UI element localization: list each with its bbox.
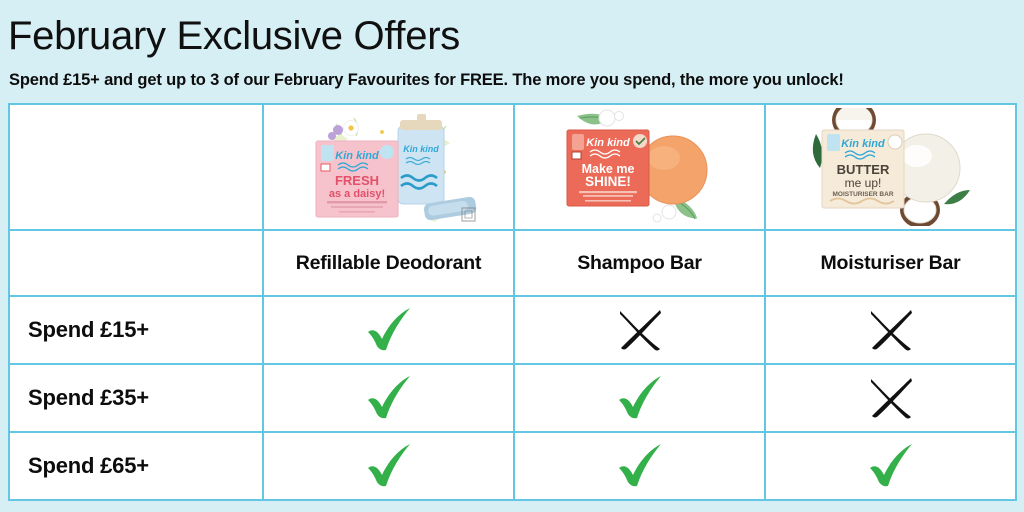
table-row-product-images: Kin kind <box>9 104 1016 230</box>
tick-icon-svg <box>362 442 416 490</box>
page-subtitle: Spend £15+ and get up to 3 of our Februa… <box>9 70 844 90</box>
svg-text:Kin kind: Kin kind <box>586 137 630 149</box>
svg-text:FRESH: FRESH <box>334 173 378 188</box>
tick-icon-svg <box>613 374 667 422</box>
row-header-spend-35: Spend £35+ <box>9 364 263 432</box>
product-name-label: Shampoo Bar <box>577 252 702 274</box>
cross-icon <box>766 297 1015 363</box>
cross-icon <box>515 297 764 363</box>
moisturiser-image-wrap: Kin kind BUTTER me up! MOISTURISER BAR <box>766 106 1015 228</box>
svg-text:BUTTER: BUTTER <box>836 162 889 177</box>
product-image-cell-deodorant: Kin kind <box>263 104 514 230</box>
cross-icon <box>766 365 1015 431</box>
moisturiser-bar-product-icon: Kin kind BUTTER me up! MOISTURISER BAR <box>796 108 986 226</box>
table-corner-cell <box>9 104 263 230</box>
cross-icon-svg <box>867 375 915 421</box>
cell-spend35-shampoo <box>514 364 765 432</box>
tick-icon-svg <box>362 306 416 354</box>
tick-icon <box>515 365 764 431</box>
page-title: February Exclusive Offers <box>8 13 460 59</box>
cell-spend15-moisturiser <box>765 296 1016 364</box>
spend-tier-label: Spend £35+ <box>10 385 262 411</box>
shampoo-bar-product-icon: Kin kind Make me SHINE! <box>545 108 735 226</box>
deodorant-refill-box: Kin kind FRESH as a daisy! <box>316 141 398 217</box>
svg-text:me up!: me up! <box>844 176 881 190</box>
product-image-cell-shampoo: Kin kind Make me SHINE! <box>514 104 765 230</box>
table-row-spend-15: Spend £15+ <box>9 296 1016 364</box>
refillable-deodorant-product-icon: Kin kind <box>294 108 484 226</box>
product-name-cell-shampoo: Shampoo Bar <box>514 230 765 296</box>
cell-spend15-deodorant <box>263 296 514 364</box>
cell-spend65-moisturiser <box>765 432 1016 500</box>
tick-icon <box>264 433 513 499</box>
spend-tier-label: Spend £15+ <box>10 317 262 343</box>
cell-spend15-shampoo <box>514 296 765 364</box>
svg-text:Kin kind: Kin kind <box>335 150 379 162</box>
offers-table: Kin kind <box>8 103 1017 501</box>
table-row-product-names: Refillable Deodorant Shampoo Bar Moistur… <box>9 230 1016 296</box>
svg-text:MOISTURISER BAR: MOISTURISER BAR <box>832 191 893 198</box>
shampoo-box: Kin kind Make me SHINE! <box>567 130 649 206</box>
shampoo-image-wrap: Kin kind Make me SHINE! <box>515 106 764 228</box>
product-name-cell-deodorant: Refillable Deodorant <box>263 230 514 296</box>
svg-text:SHINE!: SHINE! <box>585 174 631 189</box>
spend-tier-label: Spend £65+ <box>10 453 262 479</box>
row-header-spend-65: Spend £65+ <box>9 432 263 500</box>
cell-spend65-deodorant <box>263 432 514 500</box>
cross-icon-svg <box>616 307 664 353</box>
cell-spend35-moisturiser <box>765 364 1016 432</box>
product-name-label: Moisturiser Bar <box>820 252 960 274</box>
promo-page: February Exclusive Offers Spend £15+ and… <box>0 0 1024 512</box>
svg-text:as a daisy!: as a daisy! <box>328 188 384 200</box>
deodorant-image-wrap: Kin kind <box>264 106 513 228</box>
tick-icon-svg <box>362 374 416 422</box>
svg-text:Kin kind: Kin kind <box>403 144 439 154</box>
tick-icon-svg <box>864 442 918 490</box>
table-row-spend-35: Spend £35+ <box>9 364 1016 432</box>
deodorant-canister: Kin kind <box>398 114 444 204</box>
cell-spend35-deodorant <box>263 364 514 432</box>
tick-icon <box>766 433 1015 499</box>
tick-icon-svg <box>613 442 667 490</box>
cell-spend65-shampoo <box>514 432 765 500</box>
cross-icon-svg <box>867 307 915 353</box>
product-name-cell-moisturiser: Moisturiser Bar <box>765 230 1016 296</box>
product-name-label: Refillable Deodorant <box>296 252 482 274</box>
tick-icon <box>264 365 513 431</box>
moisturiser-box: Kin kind BUTTER me up! MOISTURISER BAR <box>822 130 904 208</box>
tick-icon <box>515 433 764 499</box>
svg-text:Kin kind: Kin kind <box>841 138 885 150</box>
name-row-empty-cell <box>9 230 263 296</box>
product-image-cell-moisturiser: Kin kind BUTTER me up! MOISTURISER BAR <box>765 104 1016 230</box>
tick-icon <box>264 297 513 363</box>
row-header-spend-15: Spend £15+ <box>9 296 263 364</box>
table-row-spend-65: Spend £65+ <box>9 432 1016 500</box>
